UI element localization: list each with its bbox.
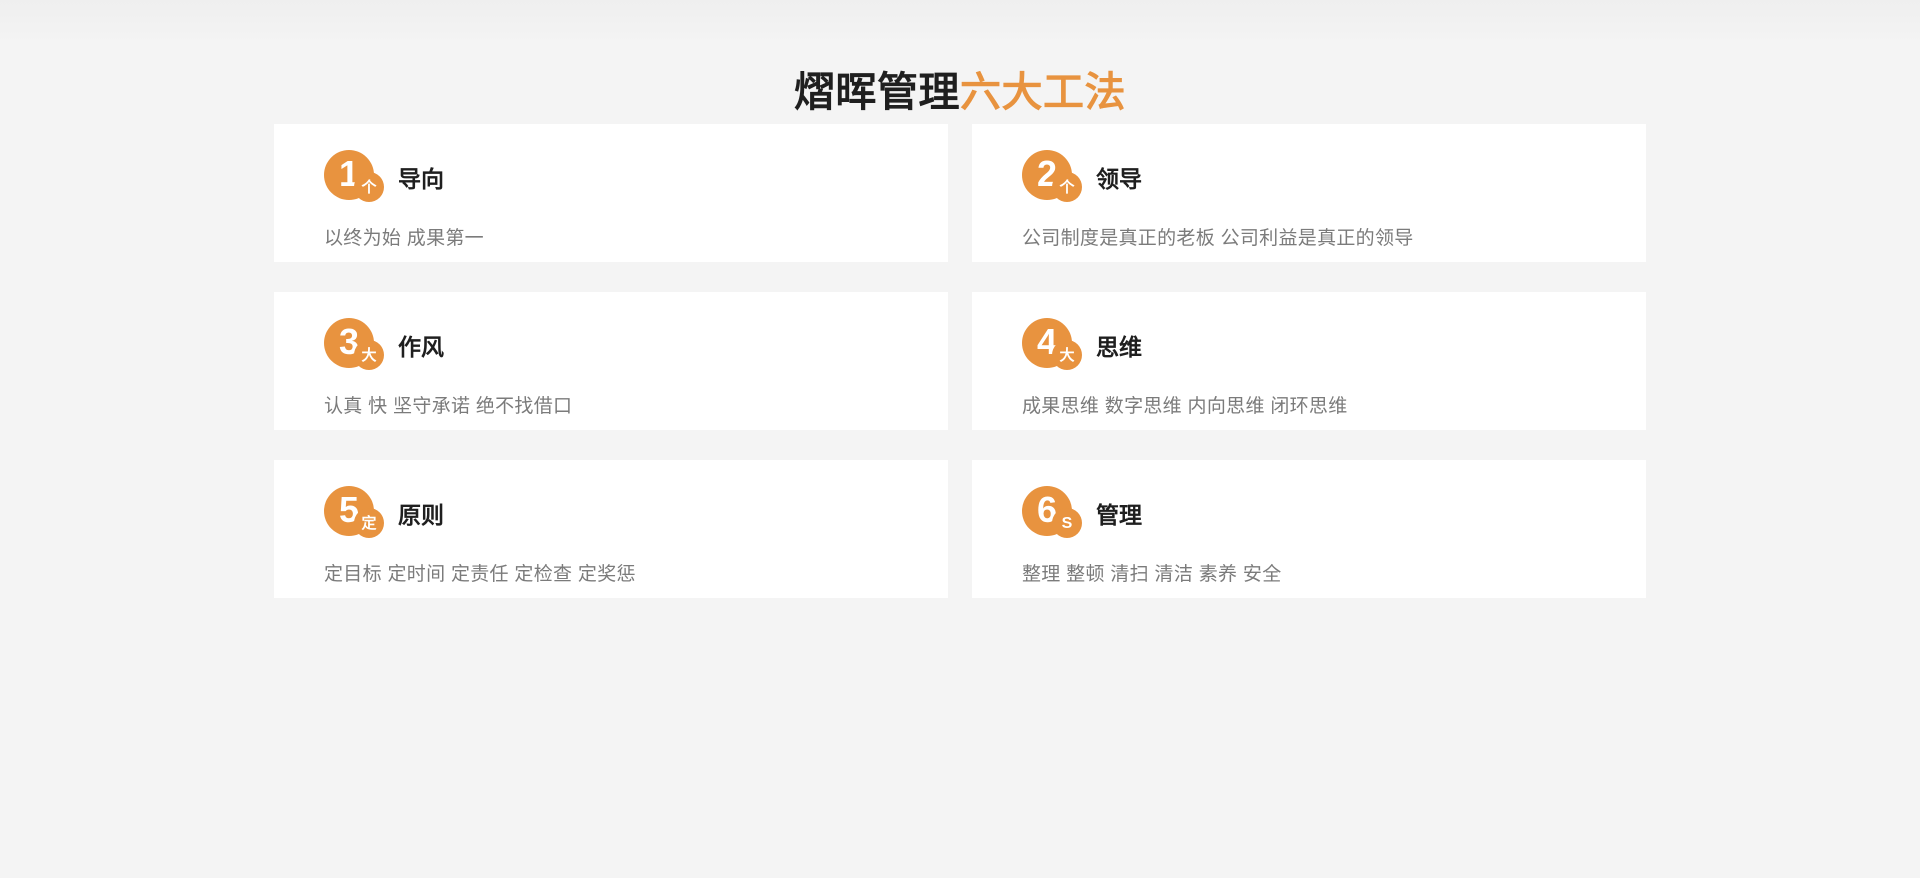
method-badge-1: 1 个 xyxy=(324,150,386,208)
method-card-1-description: 以终为始 成果第一 xyxy=(324,225,948,253)
method-badge-4: 4 大 xyxy=(1022,318,1084,376)
page-title-accent-part: 六大工法 xyxy=(960,69,1126,115)
method-badge-6: 6 S xyxy=(1022,486,1084,544)
page-title-container: 熠晖管理六大工法 xyxy=(0,0,1920,118)
methods-grid: 1 个 导向 以终为始 成果第一 2 个 xyxy=(274,118,1646,598)
method-card-6-header: 6 S 管理 xyxy=(1022,486,1646,544)
badge-unit: 个 xyxy=(1059,180,1074,195)
method-card-1-title: 导向 xyxy=(398,165,444,193)
page-root: 熠晖管理六大工法 1 个 导向 以终为始 成果第一 xyxy=(0,0,1920,878)
badge-sub-circle-icon: 个 xyxy=(354,172,384,202)
badge-unit: 大 xyxy=(361,348,376,363)
method-card-3[interactable]: 3 大 作风 认真 快 坚守承诺 绝不找借口 xyxy=(274,292,948,430)
page-title: 熠晖管理六大工法 xyxy=(794,66,1126,118)
method-card-3-description: 认真 快 坚守承诺 绝不找借口 xyxy=(324,393,948,421)
badge-unit: 个 xyxy=(361,180,376,195)
method-card-2-title: 领导 xyxy=(1096,165,1142,193)
method-badge-5: 5 定 xyxy=(324,486,386,544)
method-card-5[interactable]: 5 定 原则 定目标 定时间 定责任 定检查 定奖惩 xyxy=(274,460,948,598)
page-title-dark-part: 熠晖管理 xyxy=(794,69,960,115)
method-card-4-header: 4 大 思维 xyxy=(1022,318,1646,376)
method-badge-3: 3 大 xyxy=(324,318,386,376)
badge-unit: 定 xyxy=(361,516,376,531)
method-card-2-header: 2 个 领导 xyxy=(1022,150,1646,208)
method-card-6[interactable]: 6 S 管理 整理 整顿 清扫 清洁 素养 安全 xyxy=(972,460,1646,598)
method-card-1-header: 1 个 导向 xyxy=(324,150,948,208)
method-card-2-description: 公司制度是真正的老板 公司利益是真正的领导 xyxy=(1022,225,1646,253)
method-card-6-description: 整理 整顿 清扫 清洁 素养 安全 xyxy=(1022,561,1646,589)
badge-sub-circle-icon: S xyxy=(1052,508,1082,538)
badge-unit: S xyxy=(1062,516,1073,531)
badge-sub-circle-icon: 大 xyxy=(1052,340,1082,370)
method-badge-2: 2 个 xyxy=(1022,150,1084,208)
method-card-5-description: 定目标 定时间 定责任 定检查 定奖惩 xyxy=(324,561,948,589)
badge-unit: 大 xyxy=(1059,348,1074,363)
method-card-3-header: 3 大 作风 xyxy=(324,318,948,376)
method-card-4-description: 成果思维 数字思维 内向思维 闭环思维 xyxy=(1022,393,1646,421)
badge-sub-circle-icon: 个 xyxy=(1052,172,1082,202)
method-card-6-title: 管理 xyxy=(1096,501,1142,529)
method-card-4[interactable]: 4 大 思维 成果思维 数字思维 内向思维 闭环思维 xyxy=(972,292,1646,430)
method-card-1[interactable]: 1 个 导向 以终为始 成果第一 xyxy=(274,124,948,262)
badge-sub-circle-icon: 大 xyxy=(354,340,384,370)
method-card-3-title: 作风 xyxy=(398,333,444,361)
method-card-2[interactable]: 2 个 领导 公司制度是真正的老板 公司利益是真正的领导 xyxy=(972,124,1646,262)
badge-sub-circle-icon: 定 xyxy=(354,508,384,538)
method-card-5-header: 5 定 原则 xyxy=(324,486,948,544)
method-card-5-title: 原则 xyxy=(398,501,444,529)
method-card-4-title: 思维 xyxy=(1096,333,1142,361)
